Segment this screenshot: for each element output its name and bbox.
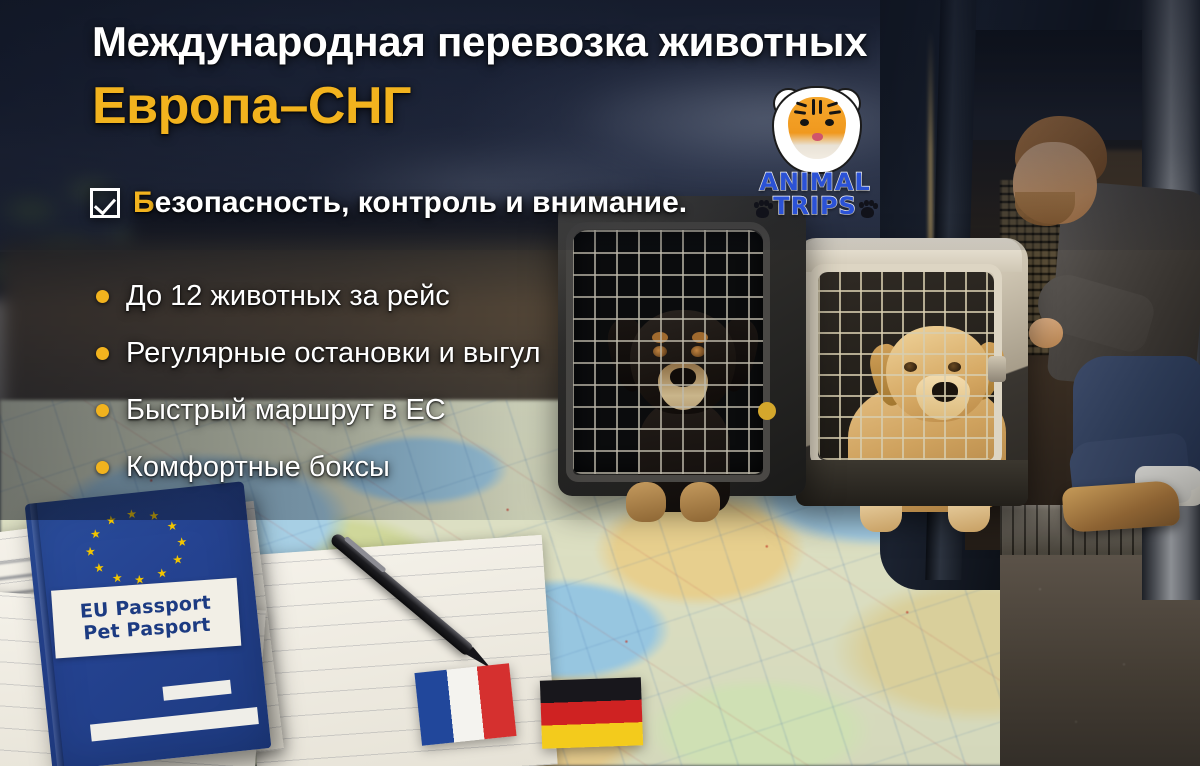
paw-toe (754, 202, 759, 208)
paw-pad (756, 207, 769, 218)
list-item: Быстрый маршрут в ЕС (96, 382, 541, 439)
headline-primary: Международная перевозка животных (92, 18, 867, 66)
paw-toe (768, 203, 773, 209)
tagline-row: Безопасность, контроль и внимание. (90, 186, 687, 220)
tiger-stripe (819, 100, 822, 114)
bullet-dot-icon (96, 290, 109, 303)
tiger-nose (812, 133, 823, 141)
list-item: До 12 животных за рейс (96, 268, 541, 325)
bullet-dot-icon (96, 404, 109, 417)
paw-toe (759, 200, 764, 206)
paw-toe (859, 202, 864, 208)
feature-list: До 12 животных за рейс Регулярные остано… (96, 268, 541, 496)
paw-toe (873, 203, 878, 209)
bullet-dot-icon (96, 461, 109, 474)
tiger-face-icon (774, 88, 860, 172)
bullet-dot-icon (96, 347, 109, 360)
tiger-stripe (827, 101, 838, 107)
checkbox-checked-icon (90, 188, 120, 218)
tiger-eye-right (825, 119, 834, 126)
tiger-stripe (829, 110, 841, 115)
brand-logo[interactable]: ANIMAL TRIPS (752, 88, 878, 216)
list-item: Регулярные остановки и выгул (96, 325, 541, 382)
paw-print-icon (754, 200, 771, 218)
promo-banner: ★ ★ ★ ★ ★ ★ ★ ★ ★ ★ ★ ★ EU Passport Pet … (0, 0, 1200, 766)
list-item-label: До 12 животных за рейс (126, 280, 450, 313)
banner-content: Международная перевозка животных Европа–… (0, 0, 1200, 766)
headline-secondary: Европа–СНГ (92, 76, 411, 136)
tagline-text: Безопасность, контроль и внимание. (133, 186, 687, 220)
tiger-stripe (812, 99, 815, 115)
list-item-label: Комфортные боксы (126, 451, 390, 484)
tiger-stripe (796, 101, 807, 107)
paw-toe (864, 200, 869, 206)
paw-pad (861, 207, 874, 218)
paw-print-icon (859, 200, 876, 218)
list-item-label: Быстрый маршрут в ЕС (126, 394, 446, 427)
tagline-first-letter: Б (133, 186, 155, 219)
tiger-eye-left (800, 119, 809, 126)
tagline-rest: езопасность, контроль и внимание. (155, 186, 688, 219)
list-item: Комфортные боксы (96, 439, 541, 496)
list-item-label: Регулярные остановки и выгул (126, 337, 541, 370)
tiger-stripe (794, 110, 806, 115)
